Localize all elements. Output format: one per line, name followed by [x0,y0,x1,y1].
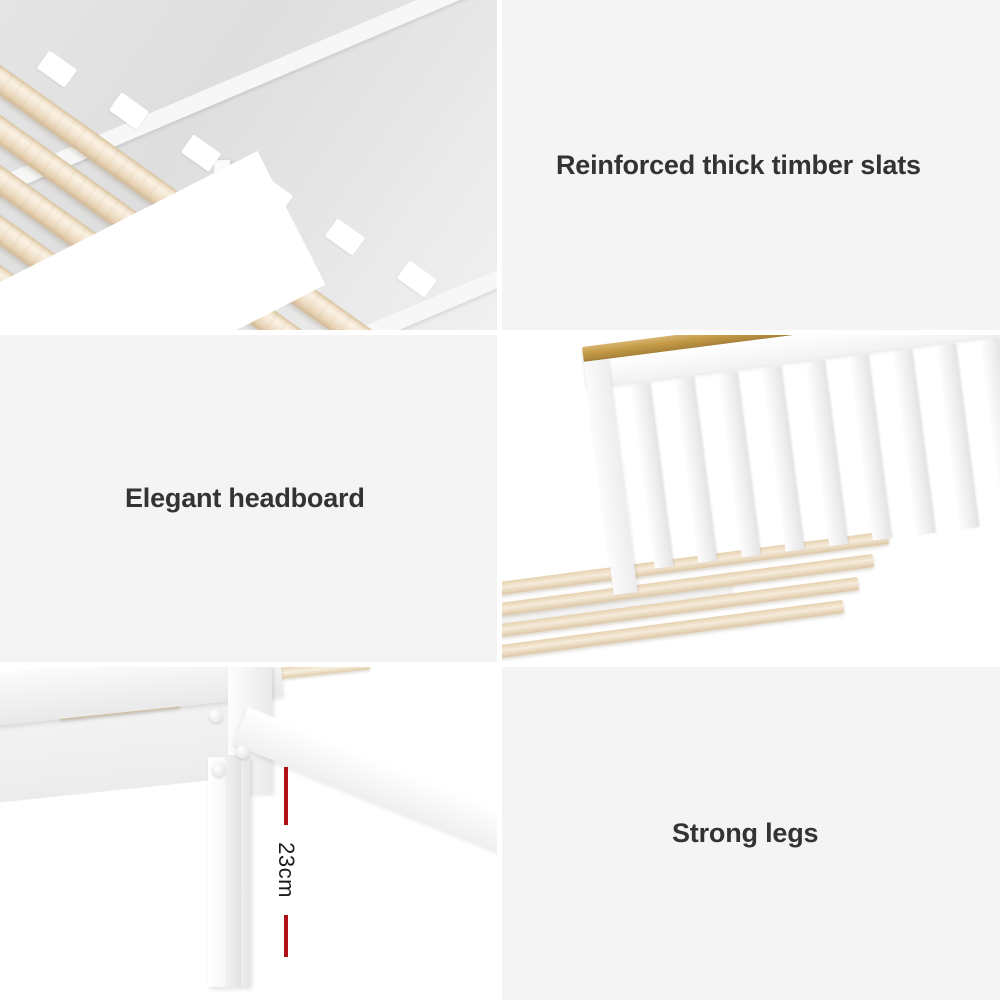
strong-legs-photo [0,667,497,1000]
headboard-caption-text: Elegant headboard [0,482,365,514]
dowel-plug [236,745,250,759]
dowel-plug [212,763,226,777]
headboard-caption: Elegant headboard [0,335,497,662]
strong-legs-image [0,667,497,1000]
dimension-line-lower [284,915,288,957]
headboard-post [584,359,638,595]
feature-grid: Reinforced thick timber slats Elegant he… [0,0,1000,1000]
headboard-slat [675,377,717,563]
headboard-slat [806,360,848,546]
dimension-line-upper [284,767,288,825]
headboard-slat [719,371,761,557]
timber-slats-caption-text: Reinforced thick timber slats [502,149,921,181]
timber-slats-image [0,0,497,330]
dimension-label: 23cm [254,825,318,915]
headboard-photo [502,335,1000,662]
leg-clearance-dimension: 23cm [272,767,300,957]
strong-legs-caption: Strong legs [502,667,1000,1000]
timber-slats-caption: Reinforced thick timber slats [502,0,1000,330]
headboard-slat [937,344,979,530]
dimension-value: 23cm [273,842,299,898]
headboard-slat [631,383,673,569]
bed-leg-inner-face [225,755,241,987]
timber-slats-photo [0,0,497,330]
headboard-image [502,335,1000,662]
headboard-slat [893,349,935,535]
dowel-plug [209,709,223,723]
strong-legs-caption-text: Strong legs [502,817,818,849]
headboard-slat [849,355,891,541]
headboard-slat [980,338,1000,524]
headboard-assembly [582,335,1000,662]
headboard-slat [762,366,804,552]
